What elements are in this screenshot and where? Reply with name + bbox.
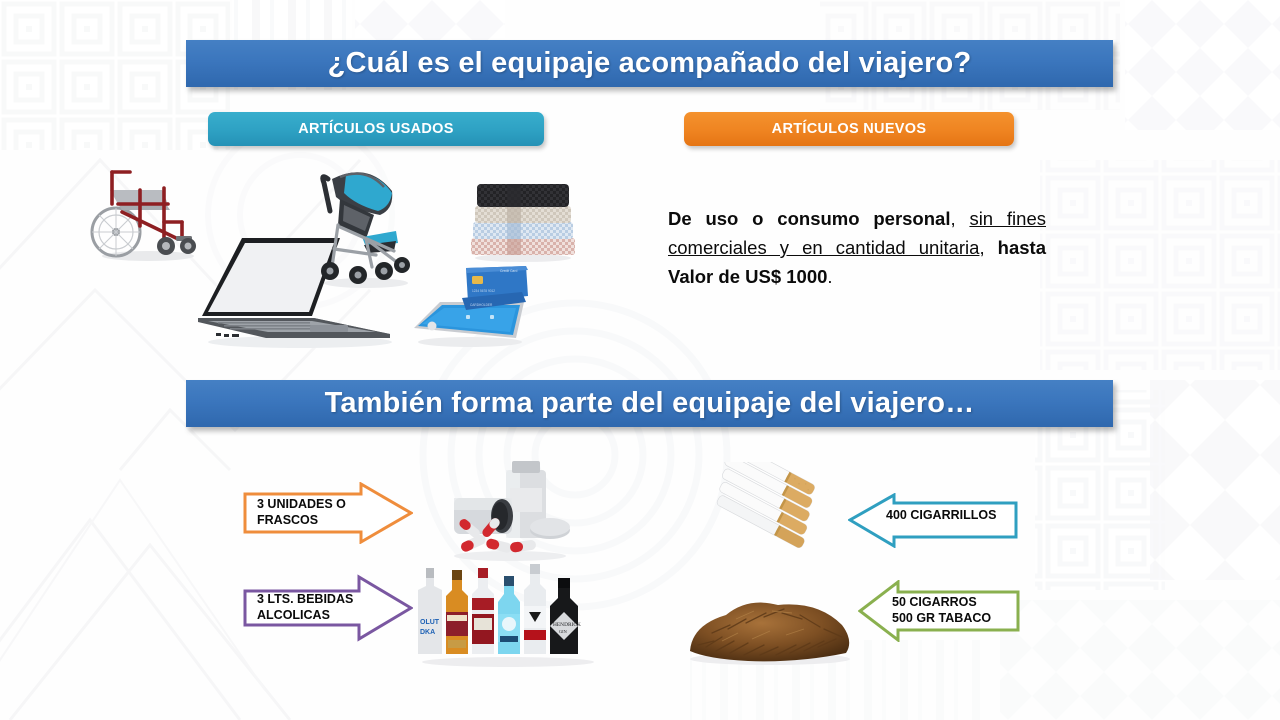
tab-articulos-nuevos[interactable]: ARTÍCULOS NUEVOS [684,112,1014,146]
slide-background [0,0,1280,720]
page-title: ¿Cuál es el equipaje acompañado del viaj… [186,40,1113,87]
smartphone-credit-card-image: 1234 5678 9012 Credit Card CARDHOLDER [404,258,534,348]
page-title-text: ¿Cuál es el equipaje acompañado del viaj… [328,47,972,80]
background-pattern-decor [0,0,1280,720]
loose-tobacco-image [678,585,860,665]
allowance-arrow-cigars-tobacco: 50 CIGARROS 500 GR TABACO [858,580,1020,642]
desc-comma-2: , [979,237,997,258]
desc-comma-1: , [950,208,969,229]
cigarettes-image [690,462,850,572]
svg-text:OLUT: OLUT [420,619,440,626]
allowance-arrow-alcohol: 3 LTS. BEBIDAS ALCOLICAS [243,573,413,643]
tab-articulos-usados[interactable]: ARTÍCULOS USADOS [208,112,544,146]
svg-text:GIN: GIN [559,629,568,634]
section-title-text: También forma parte del equipaje del via… [325,387,975,420]
svg-text:Credit Card: Credit Card [500,269,517,273]
tab-articulos-nuevos-label: ARTÍCULOS NUEVOS [772,121,927,137]
articulos-nuevos-description: De uso o consumo personal, sin fines com… [668,204,1046,291]
svg-text:CARDHOLDER: CARDHOLDER [470,303,493,307]
allowance-arrow-cigarettes-label: 400 CIGARRILLOS [886,507,996,523]
medicine-bottles-image [440,458,580,563]
alcohol-bottles-image: OLUT DKA HENDRICK GIN [408,562,608,667]
allowance-arrow-medicines-label: 3 UNIDADES O FRASCOS [257,496,346,528]
svg-text:DKA: DKA [420,629,435,636]
allowance-arrow-medicines: 3 UNIDADES O FRASCOS [243,482,413,544]
svg-text:1234 5678 9012: 1234 5678 9012 [472,289,495,293]
desc-period: . [827,266,832,287]
allowance-arrow-alcohol-label: 3 LTS. BEBIDAS ALCOLICAS [257,591,353,623]
desc-part-personal-use: De uso o consumo personal [668,208,950,229]
folded-clothes-image [463,170,583,265]
allowance-arrow-cigars-tobacco-label: 50 CIGARROS 500 GR TABACO [892,594,991,626]
section-title: También forma parte del equipaje del via… [186,380,1113,427]
svg-text:HENDRICK: HENDRICK [553,622,581,628]
allowance-arrow-cigarettes: 400 CIGARRILLOS [848,493,1018,548]
tab-articulos-usados-label: ARTÍCULOS USADOS [298,121,453,137]
